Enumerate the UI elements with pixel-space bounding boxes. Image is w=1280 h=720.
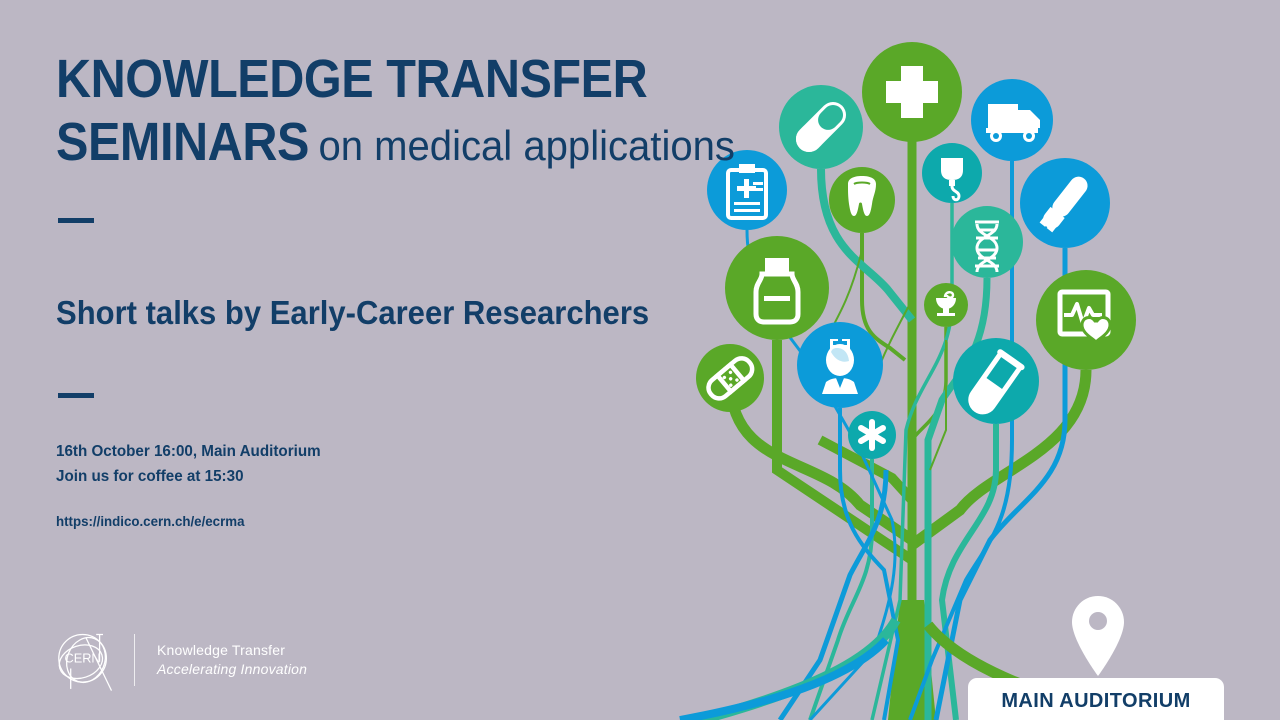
subheading: Short talks by Early-Career Researchers xyxy=(56,294,649,332)
title-line-2-wrap: SEMINARSon medical applications xyxy=(56,111,650,174)
node-nurse-icon xyxy=(797,322,883,408)
logo-divider xyxy=(134,634,135,686)
node-pill-capsule-icon xyxy=(779,85,863,169)
node-ecg-heart-icon xyxy=(1036,270,1136,370)
event-details: 16th October 16:00, Main Auditorium Join… xyxy=(56,439,321,490)
node-dna-icon xyxy=(951,206,1023,278)
node-bandage-icon xyxy=(696,344,764,412)
title-line-1: KNOWLEDGE TRANSFER xyxy=(56,48,650,111)
event-coffee-note: Join us for coffee at 15:30 xyxy=(56,464,321,489)
logo-tagline-line-1: Knowledge Transfer xyxy=(157,641,307,660)
node-tooth-icon xyxy=(829,167,895,233)
node-star-of-life-icon xyxy=(848,411,896,459)
logo-tagline-line-2: Accelerating Innovation xyxy=(157,660,307,679)
event-link[interactable]: https://indico.cern.ch/e/ecrma xyxy=(56,513,244,529)
map-pin-icon xyxy=(1068,594,1128,678)
venue-card: MAIN AUDITORIUM xyxy=(968,678,1224,720)
node-bowl-of-hygieia-icon xyxy=(924,283,968,327)
divider-rule-bottom xyxy=(58,393,94,398)
node-test-tube-icon xyxy=(953,338,1039,424)
logo-tagline: Knowledge Transfer Accelerating Innovati… xyxy=(157,641,307,679)
cern-logo-wordmark: CERN xyxy=(65,651,101,666)
event-datetime-venue: 16th October 16:00, Main Auditorium xyxy=(56,439,321,464)
headline-block: KNOWLEDGE TRANSFER SEMINARSon medical ap… xyxy=(56,48,716,173)
title-subtitle: on medical applications xyxy=(309,122,735,171)
cern-logo-icon: CERN xyxy=(52,626,120,694)
page-title: KNOWLEDGE TRANSFER SEMINARSon medical ap… xyxy=(56,48,650,173)
poster-canvas: KNOWLEDGE TRANSFER SEMINARSon medical ap… xyxy=(0,0,1280,720)
medical-icon-tree-graphic xyxy=(660,0,1280,720)
node-iv-drip-icon xyxy=(922,143,982,203)
node-medical-cross-icon xyxy=(862,42,962,142)
title-line-2: SEMINARS xyxy=(56,112,309,172)
venue-label: MAIN AUDITORIUM xyxy=(1001,690,1190,713)
divider-rule-top xyxy=(58,218,94,223)
node-thermometer-icon xyxy=(1020,158,1110,248)
node-ambulance-icon xyxy=(971,79,1053,161)
node-medicine-bottle-icon xyxy=(725,236,829,340)
cern-kt-logo: CERN Knowledge Transfer Accelerating Inn… xyxy=(52,626,307,694)
